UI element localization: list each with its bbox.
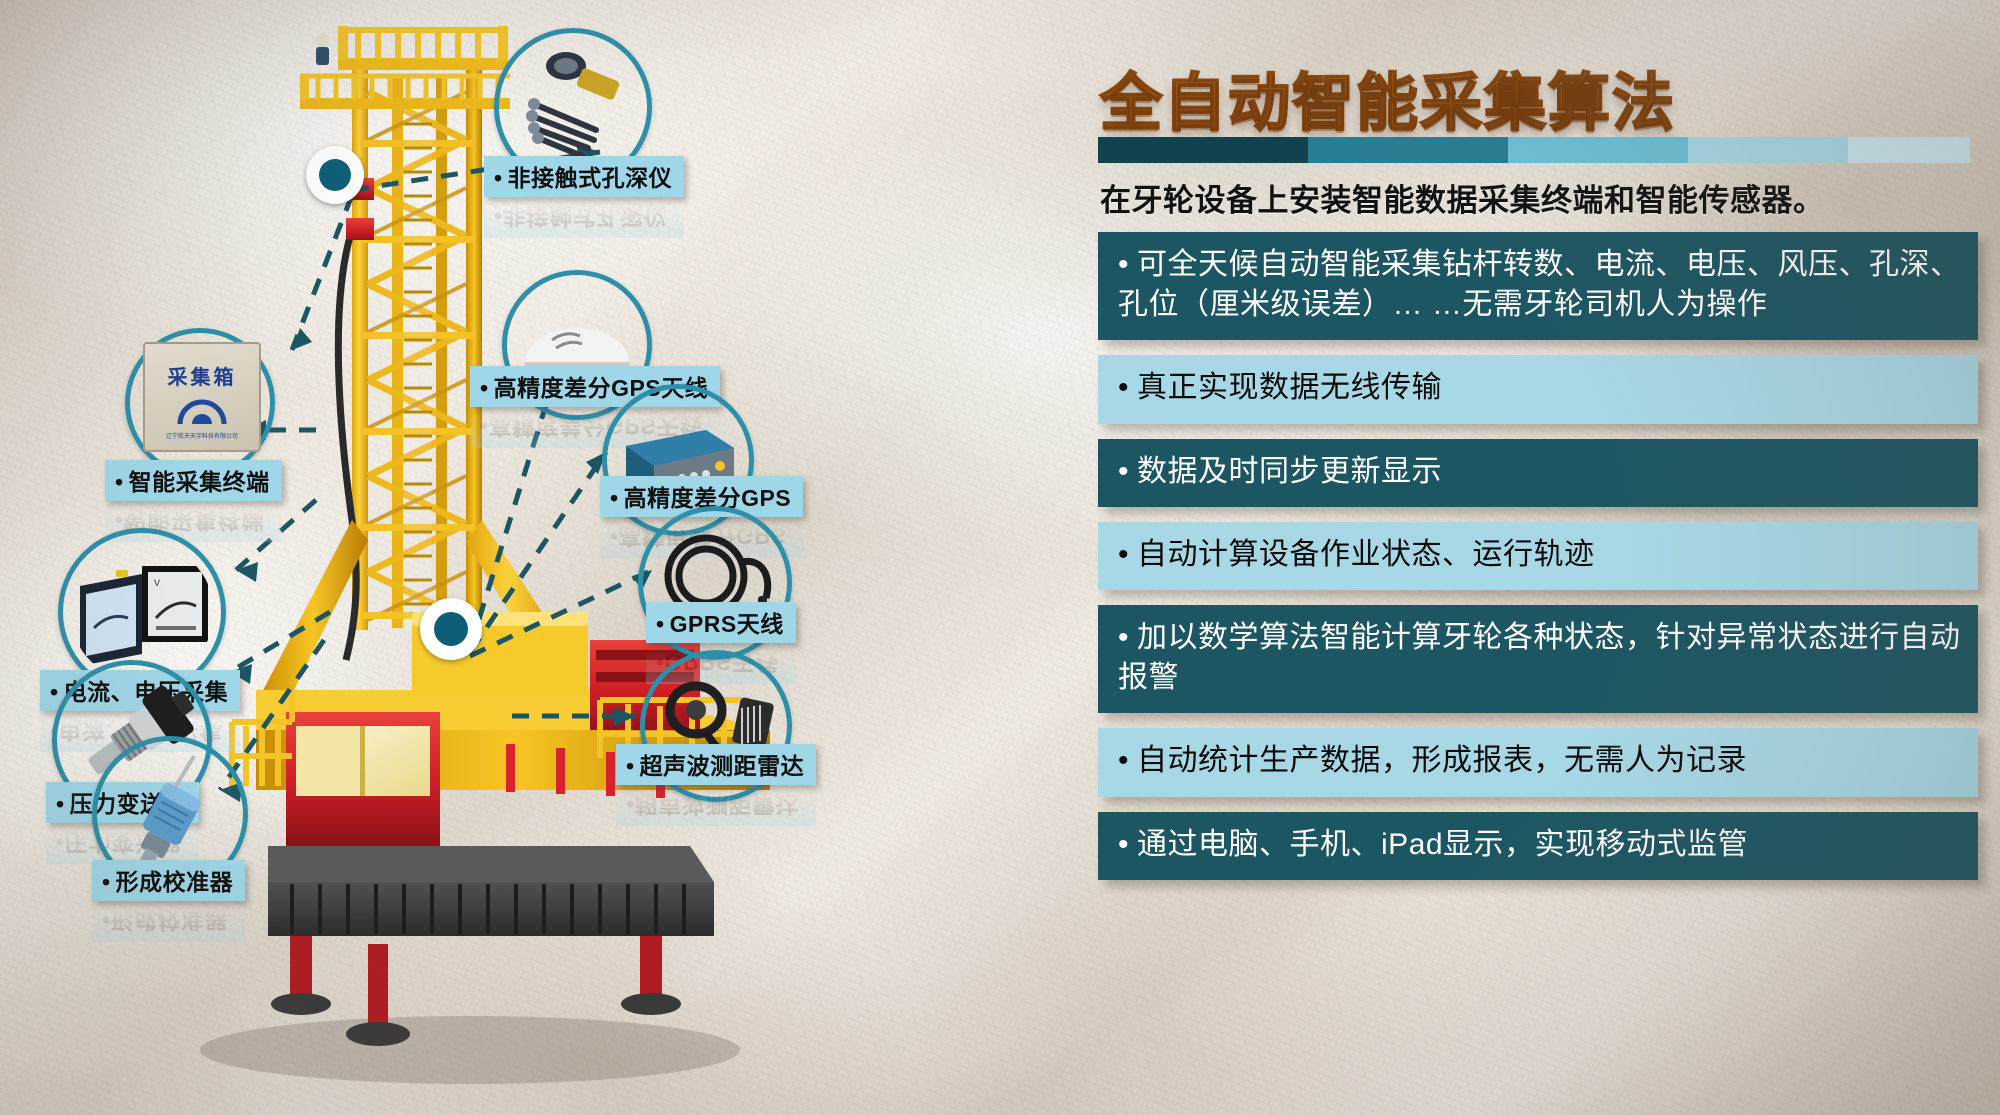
vignette-overlay [0,0,2000,1115]
